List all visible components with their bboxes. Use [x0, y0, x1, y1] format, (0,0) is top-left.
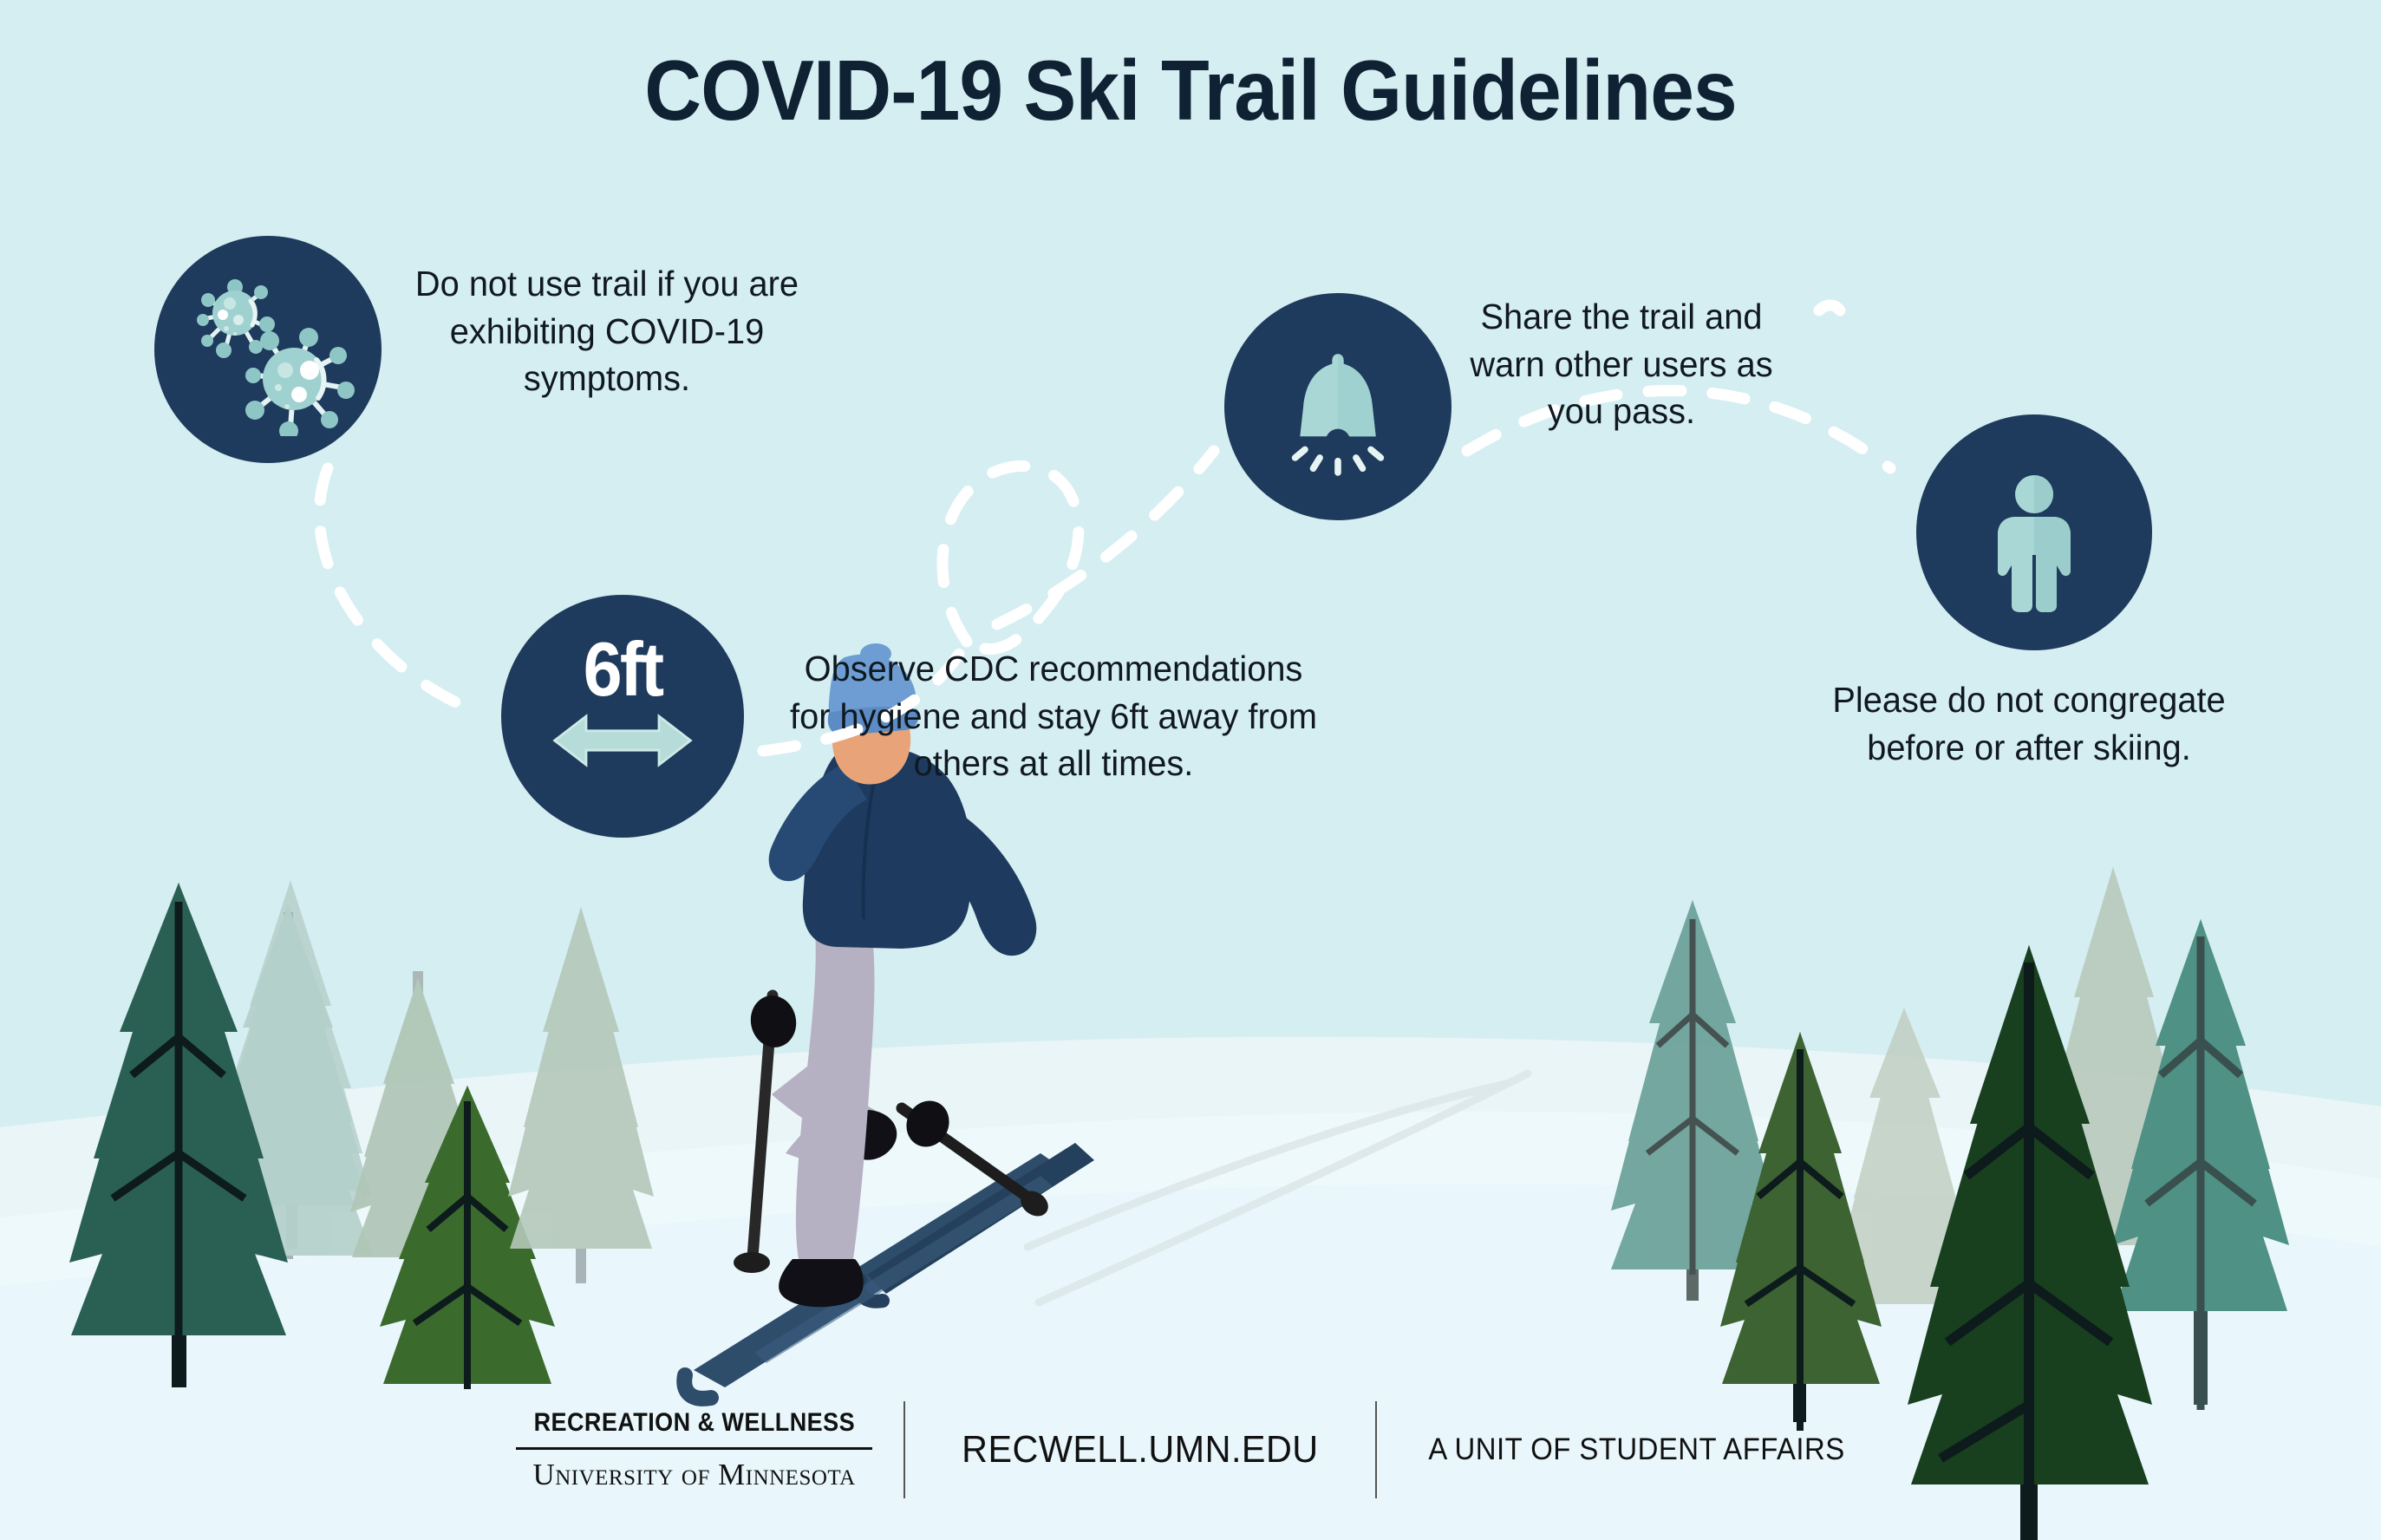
- footer-website[interactable]: RECWELL.UMN.EDU: [920, 1428, 1361, 1471]
- virus-icon: [154, 236, 382, 463]
- guideline-text-share: Share the trail and warn other users as …: [1453, 293, 1790, 435]
- person-icon: [1916, 414, 2152, 650]
- bell-icon: [1224, 293, 1451, 520]
- footer-divider-1: [903, 1401, 905, 1498]
- distance-arrow-icon: [555, 716, 691, 765]
- guideline-text-congregate: Please do not congregate before or after…: [1819, 676, 2240, 771]
- footer: RECREATION & WELLNESS University of Minn…: [0, 1401, 2381, 1498]
- distance-6ft-badge: 6ft: [501, 595, 744, 838]
- infographic-poster: COVID-19 Ski Trail Guidelines: [0, 0, 2381, 1540]
- logo-bottom-line: University of Minnesota: [516, 1458, 873, 1492]
- logo-divider-rule: [516, 1447, 873, 1450]
- guideline-text-distance: Observe CDC recommendations for hygiene …: [780, 645, 1327, 787]
- umn-recwell-logo: RECREATION & WELLNESS University of Minn…: [485, 1408, 904, 1492]
- footer-unit: A UNIT OF STUDENT AFFAIRS: [1393, 1432, 1881, 1467]
- page-title: COVID-19 Ski Trail Guidelines: [83, 42, 2298, 140]
- logo-top-line: RECREATION & WELLNESS: [533, 1408, 854, 1438]
- guideline-text-symptoms: Do not use trail if you are exhibiting C…: [388, 260, 825, 402]
- footer-divider-2: [1375, 1401, 1377, 1498]
